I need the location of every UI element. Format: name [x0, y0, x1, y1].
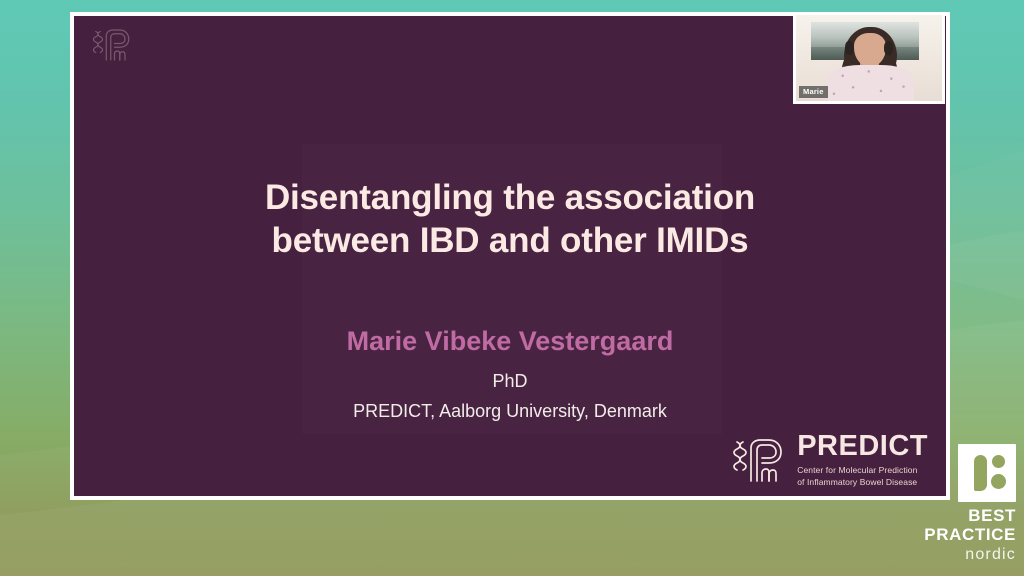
predict-tagline-line-1: Center for Molecular Prediction — [797, 465, 928, 476]
participant-video-thumbnail[interactable]: Marie — [793, 12, 945, 104]
predict-wordmark: PREDICT — [797, 432, 928, 461]
bpn-line-practice: PRACTICE — [910, 525, 1016, 544]
participant-video-feed[interactable]: Marie — [796, 15, 942, 101]
slide-title-line-1: Disentangling the association — [74, 176, 946, 219]
predict-monogram-icon — [731, 432, 789, 488]
presenter-degree: PhD — [74, 371, 946, 392]
bpn-dot-top-shape — [992, 455, 1005, 468]
predict-wordmark-block: PREDICT Center for Molecular Prediction … — [797, 432, 928, 487]
predict-tagline: Center for Molecular Prediction of Infla… — [797, 465, 928, 487]
slide-title: Disentangling the association between IB… — [74, 176, 946, 262]
predict-logo: PREDICT Center for Molecular Prediction … — [731, 432, 928, 488]
participant-name-label: Marie — [799, 86, 828, 99]
participant-torso — [827, 65, 915, 101]
slide-title-line-2: between IBD and other IMIDs — [74, 219, 946, 262]
bpn-line-nordic: nordic — [910, 545, 1016, 564]
bpn-line-best: BEST — [910, 506, 1016, 525]
predict-monogram-icon — [90, 24, 136, 66]
presenter-affiliation: PREDICT, Aalborg University, Denmark — [74, 401, 946, 422]
presentation-screen: Disentangling the association between IB… — [0, 0, 1024, 576]
bpn-dot-bottom-shape — [991, 474, 1006, 489]
headphone-right-icon — [884, 41, 893, 56]
bpn-leaf-shape — [974, 455, 987, 491]
participant-face — [854, 33, 886, 67]
predict-tagline-line-2: of Inflammatory Bowel Disease — [797, 477, 928, 488]
best-practice-nordic-logo: BEST PRACTICE nordic — [910, 444, 1016, 564]
presenter-name: Marie Vibeke Vestergaard — [74, 326, 946, 357]
best-practice-nordic-mark-icon — [958, 444, 1016, 502]
